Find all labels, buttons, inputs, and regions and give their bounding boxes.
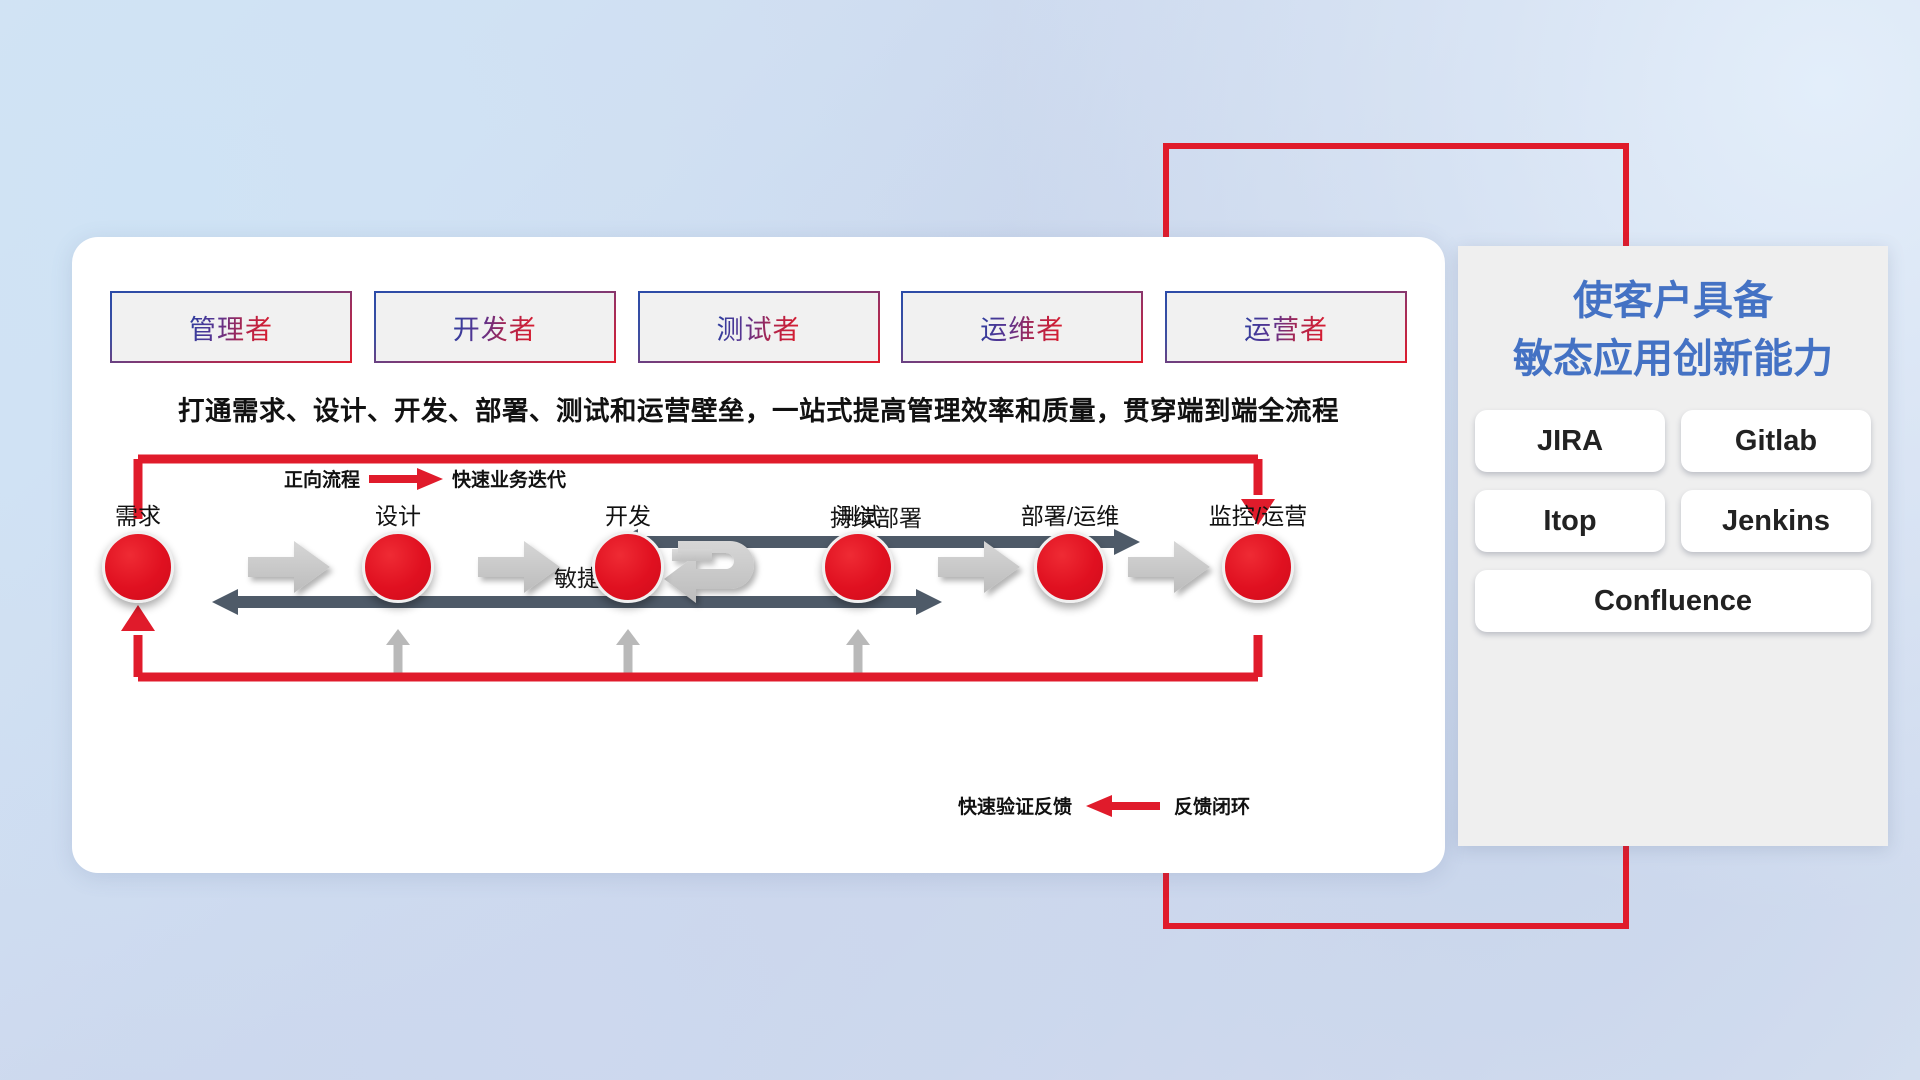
tool-chip-jenkins[interactable]: Jenkins xyxy=(1681,490,1871,552)
pipeline-node-requirement[interactable]: 需求 xyxy=(102,531,174,603)
slide-canvas: 管理者 开发者 测试者 运维者 运营者 打通需求、设计、开发、部署、测试和运营壁… xyxy=(0,0,1920,1080)
node-dot xyxy=(362,531,434,603)
role-label: 管理者 xyxy=(189,308,273,347)
role-box-row: 管理者 开发者 测试者 运维者 运营者 xyxy=(112,293,1405,361)
node-label: 需求 xyxy=(115,497,161,531)
role-box-operations[interactable]: 运营者 xyxy=(1167,293,1405,361)
pipeline-node-test[interactable]: 测试 xyxy=(822,531,894,603)
tool-chip-list: JIRA Gitlab Itop Jenkins Confluence xyxy=(1458,388,1888,632)
value-proposition-panel: 使客户具备 敏态应用创新能力 JIRA Gitlab Itop Jenkins … xyxy=(1458,246,1888,846)
node-label: 部署/运维 xyxy=(1021,497,1119,531)
pipeline-node-monitor-operations[interactable]: 监控/运营 xyxy=(1222,531,1294,603)
panel-title: 使客户具备 敏态应用创新能力 xyxy=(1458,246,1888,388)
tool-chip-gitlab[interactable]: Gitlab xyxy=(1681,410,1871,472)
panel-title-line2: 敏态应用创新能力 xyxy=(1458,330,1888,388)
tool-chip-confluence[interactable]: Confluence xyxy=(1475,570,1871,632)
pipeline-node-deploy-ops[interactable]: 部署/运维 xyxy=(1034,531,1106,603)
role-label: 开发者 xyxy=(453,308,537,347)
node-dot xyxy=(102,531,174,603)
node-dot xyxy=(822,531,894,603)
node-dot xyxy=(1222,531,1294,603)
tool-chip-jira[interactable]: JIRA xyxy=(1475,410,1665,472)
node-label: 测试 xyxy=(835,497,881,531)
role-label: 测试者 xyxy=(717,308,801,347)
node-label: 设计 xyxy=(375,497,421,531)
node-label: 开发 xyxy=(605,497,651,531)
pipeline-node-design[interactable]: 设计 xyxy=(362,531,434,603)
role-box-tester[interactable]: 测试者 xyxy=(640,293,878,361)
arrow-up-head xyxy=(121,605,155,631)
role-box-developer[interactable]: 开发者 xyxy=(376,293,614,361)
role-box-manager[interactable]: 管理者 xyxy=(112,293,350,361)
role-box-ops[interactable]: 运维者 xyxy=(903,293,1141,361)
role-label: 运维者 xyxy=(980,308,1064,347)
pipeline-node-development[interactable]: 开发 xyxy=(592,531,664,603)
role-label: 运营者 xyxy=(1244,308,1328,347)
main-card: 管理者 开发者 测试者 运维者 运营者 打通需求、设计、开发、部署、测试和运营壁… xyxy=(72,237,1445,873)
node-dot xyxy=(1034,531,1106,603)
tool-chip-itop[interactable]: Itop xyxy=(1475,490,1665,552)
node-dot xyxy=(592,531,664,603)
node-label: 监控/运营 xyxy=(1209,497,1307,531)
panel-title-line1: 使客户具备 xyxy=(1458,272,1888,330)
